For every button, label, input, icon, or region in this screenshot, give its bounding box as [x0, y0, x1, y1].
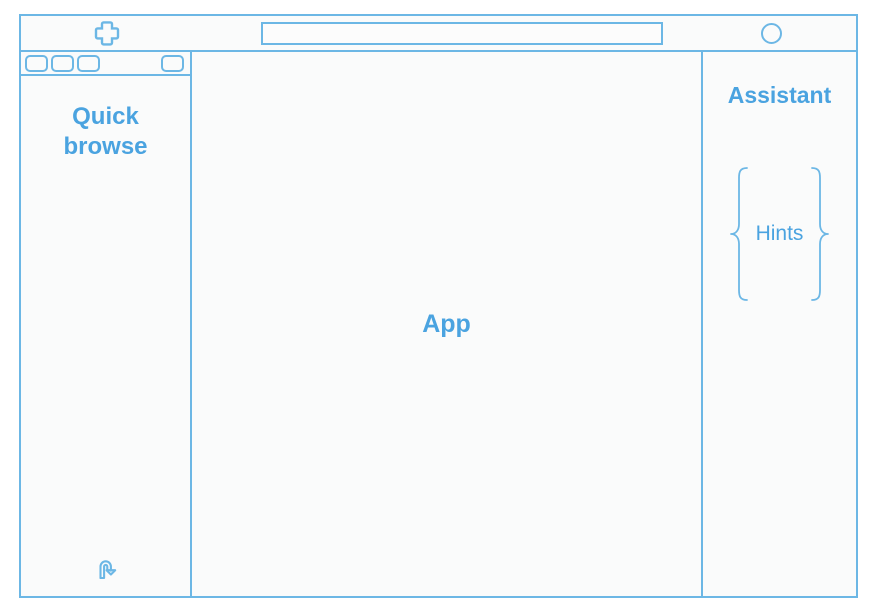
sidebar-toolbar — [21, 52, 190, 76]
sidebar-footer — [21, 553, 190, 588]
right-brace-icon — [807, 164, 833, 304]
sidebar-content: Quick browse — [21, 76, 190, 596]
address-input[interactable] — [261, 22, 663, 45]
header-bar — [21, 16, 856, 52]
quick-browse-title: Quick browse — [63, 102, 147, 162]
hints-block: Hints — [726, 164, 834, 304]
sidebar-tool-right-button[interactable] — [161, 55, 184, 72]
sidebar-tool-3-button[interactable] — [77, 55, 100, 72]
header-center-region — [192, 16, 686, 50]
plus-icon — [94, 20, 120, 46]
sidebar-tool-2-button[interactable] — [51, 55, 74, 72]
app-label: App — [422, 310, 471, 339]
sidebar-tool-1-button[interactable] — [25, 55, 48, 72]
undo-uturn-arrow-icon[interactable] — [91, 553, 121, 588]
header-right-region — [686, 16, 856, 50]
assistant-title: Assistant — [728, 82, 832, 109]
add-button[interactable] — [94, 20, 120, 46]
hints-label: Hints — [752, 222, 808, 246]
assistant-panel: Assistant Hints — [703, 52, 856, 596]
header-left-region — [21, 16, 192, 50]
sidebar: Quick browse — [21, 52, 192, 596]
circle-avatar-icon[interactable] — [761, 23, 782, 44]
body-row: Quick browse App Assistant — [21, 52, 856, 596]
main-app-panel[interactable]: App — [192, 52, 703, 596]
left-brace-icon — [726, 164, 752, 304]
app-window-frame: Quick browse App Assistant — [19, 14, 858, 598]
